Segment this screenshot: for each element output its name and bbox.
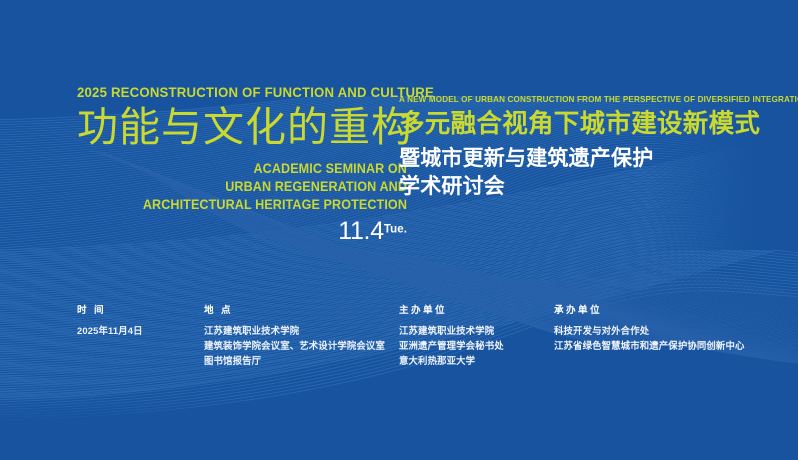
info-column-2: 地 点江苏建筑职业技术学院建筑装饰学院会议室、艺术设计学院会议室图书馆报告厅 (204, 306, 394, 368)
info-column-line: 亚洲遗产管理学会秘书处 (399, 338, 549, 353)
info-column-line: 江苏省绿色智慧城市和遗产保护协同创新中心 (554, 338, 784, 353)
info-column-line: 科技开发与对外合作处 (554, 323, 784, 338)
right-chinese-subtitle: 暨城市更新与建筑遗产保护 学术研讨会 (399, 145, 749, 201)
info-column-line: 江苏建筑职业技术学院 (399, 323, 549, 338)
right-title-group: A NEW MODEL OF URBAN CONSTRUCTION FROM T… (399, 96, 749, 201)
info-column-1: 时 间2025年11月4日 (77, 306, 197, 338)
info-column-label: 主办单位 (399, 306, 549, 316)
info-column-label: 时 间 (77, 306, 197, 316)
event-info-row: 时 间2025年11月4日地 点江苏建筑职业技术学院建筑装饰学院会议室、艺术设计… (0, 306, 798, 386)
info-column-4: 承办单位科技开发与对外合作处江苏省绿色智慧城市和遗产保护协同创新中心 (554, 306, 784, 353)
info-column-line: 江苏建筑职业技术学院 (204, 323, 394, 338)
event-date-weekday: Tue. (384, 223, 407, 235)
left-subtitle-english: ACADEMIC SEMINAR ON URBAN REGENERATION A… (97, 160, 407, 213)
right-chinese-subtitle-line-1: 暨城市更新与建筑遗产保护 (399, 145, 749, 173)
info-column-3: 主办单位江苏建筑职业技术学院亚洲遗产管理学会秘书处意大利热那亚大学 (399, 306, 549, 368)
event-date: 11.4Tue. (77, 217, 407, 246)
info-column-line: 意大利热那亚大学 (399, 353, 549, 368)
left-subtitle-english-line-3: ARCHITECTURAL HERITAGE PROTECTION (97, 196, 407, 214)
left-eyebrow-english: 2025 RECONSTRUCTION OF FUNCTION AND CULT… (77, 86, 384, 100)
right-english-tagline: A NEW MODEL OF URBAN CONSTRUCTION FROM T… (399, 96, 746, 104)
info-column-line: 图书馆报告厅 (204, 353, 394, 368)
right-main-chinese-title: 多元融合视角下城市建设新模式 (399, 110, 749, 139)
info-column-line: 建筑装饰学院会议室、艺术设计学院会议室 (204, 338, 394, 353)
bottom-fade-overlay (0, 398, 798, 460)
left-title-group: 2025 RECONSTRUCTION OF FUNCTION AND CULT… (77, 86, 407, 246)
left-subtitle-english-line-2: URBAN REGENERATION AND (97, 178, 407, 196)
poster-canvas: 2025 RECONSTRUCTION OF FUNCTION AND CULT… (0, 0, 798, 460)
left-subtitle-english-line-1: ACADEMIC SEMINAR ON (97, 160, 407, 178)
info-column-line: 2025年11月4日 (77, 323, 197, 338)
left-main-chinese-title: 功能与文化的重构 (77, 105, 407, 149)
event-date-number: 11.4 (338, 217, 384, 245)
info-column-label: 承办单位 (554, 306, 784, 316)
info-column-label: 地 点 (204, 306, 394, 316)
right-chinese-subtitle-line-2: 学术研讨会 (399, 173, 749, 201)
headline-block: 2025 RECONSTRUCTION OF FUNCTION AND CULT… (0, 0, 798, 300)
